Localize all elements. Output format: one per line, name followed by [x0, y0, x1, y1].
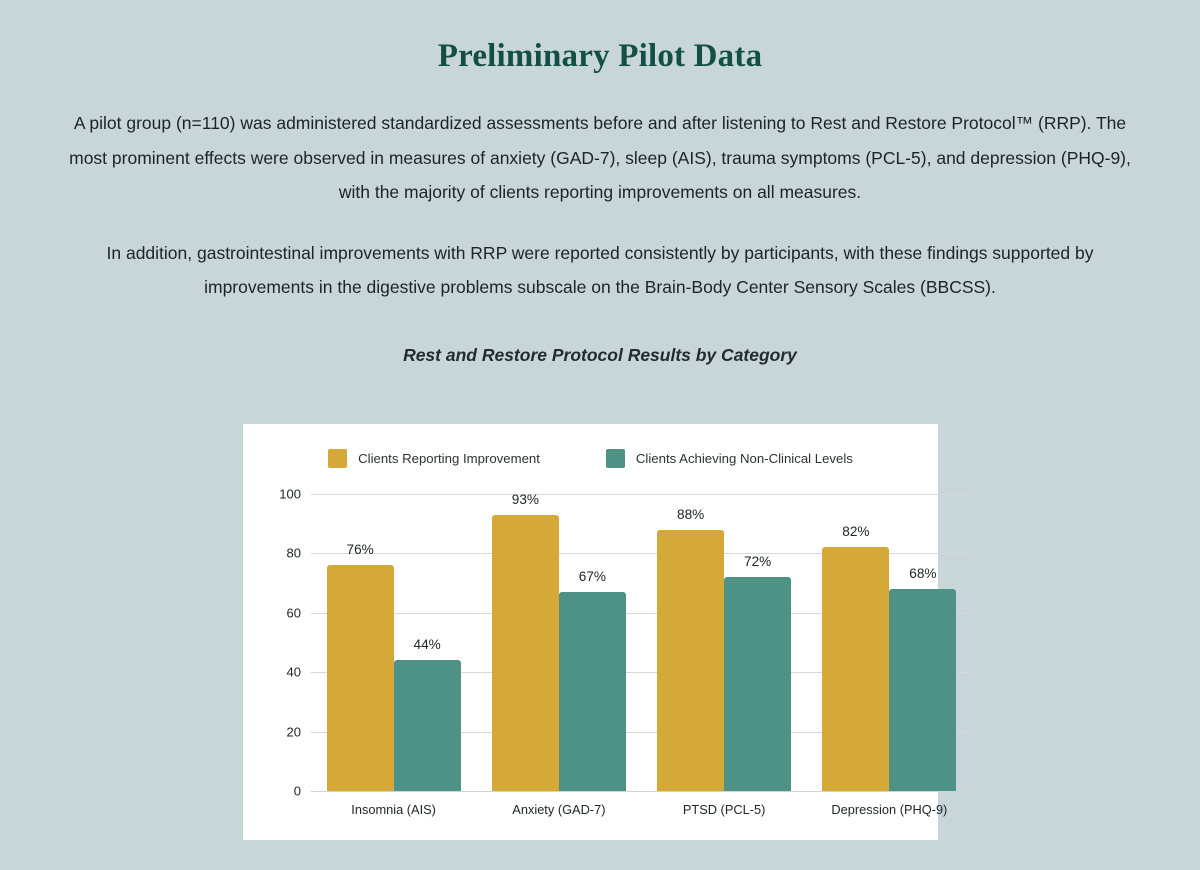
bar-value-label: 68%	[909, 566, 936, 581]
plot-wrapper: 020406080100 76%44%93%67%88%72%82%68% In…	[243, 424, 938, 840]
bar-value-label: 44%	[414, 637, 441, 652]
x-axis-label: Anxiety (GAD-7)	[476, 802, 641, 817]
y-axis-tick-80: 80	[287, 546, 301, 561]
y-axis-tick-100: 100	[279, 487, 301, 502]
bar[interactable]: 82%	[822, 547, 889, 791]
paragraph-2: In addition, gastrointestinal improvemen…	[55, 236, 1145, 305]
y-axis-tick-60: 60	[287, 605, 301, 620]
x-axis-label: Insomnia (AIS)	[311, 802, 476, 817]
y-axis-tick-0: 0	[294, 784, 301, 799]
bar[interactable]: 44%	[394, 660, 461, 791]
y-axis-tick-20: 20	[287, 724, 301, 739]
x-axis-labels: Insomnia (AIS)Anxiety (GAD-7)PTSD (PCL-5…	[311, 802, 972, 817]
bar-groups: 76%44%93%67%88%72%82%68%	[311, 494, 972, 791]
bar-value-label: 88%	[677, 507, 704, 522]
y-axis-tick-40: 40	[287, 665, 301, 680]
bar[interactable]: 68%	[889, 589, 956, 791]
gridline-0	[311, 791, 972, 792]
bar[interactable]: 88%	[657, 530, 724, 791]
bar-group: 76%44%	[311, 494, 476, 791]
bar[interactable]: 72%	[724, 577, 791, 791]
page-title: Preliminary Pilot Data	[0, 38, 1200, 75]
x-axis-label: PTSD (PCL-5)	[642, 802, 807, 817]
bar-value-label: 82%	[842, 524, 869, 539]
bar[interactable]: 93%	[492, 515, 559, 791]
bar[interactable]: 76%	[327, 565, 394, 791]
x-axis-label: Depression (PHQ-9)	[807, 802, 972, 817]
bar-group: 93%67%	[476, 494, 641, 791]
bar-value-label: 67%	[579, 569, 606, 584]
chart-card: Clients Reporting Improvement Clients Ac…	[243, 424, 938, 840]
paragraph-1: A pilot group (n=110) was administered s…	[55, 106, 1145, 210]
intro-prose: A pilot group (n=110) was administered s…	[55, 106, 1145, 305]
bar-group: 88%72%	[642, 494, 807, 791]
bar-value-label: 72%	[744, 554, 771, 569]
bar-value-label: 76%	[347, 542, 374, 557]
bar[interactable]: 67%	[559, 592, 626, 791]
chart-title: Rest and Restore Protocol Results by Cat…	[0, 345, 1200, 366]
bar-group: 82%68%	[807, 494, 972, 791]
plot: 020406080100 76%44%93%67%88%72%82%68%	[311, 494, 972, 791]
bar-value-label: 93%	[512, 492, 539, 507]
